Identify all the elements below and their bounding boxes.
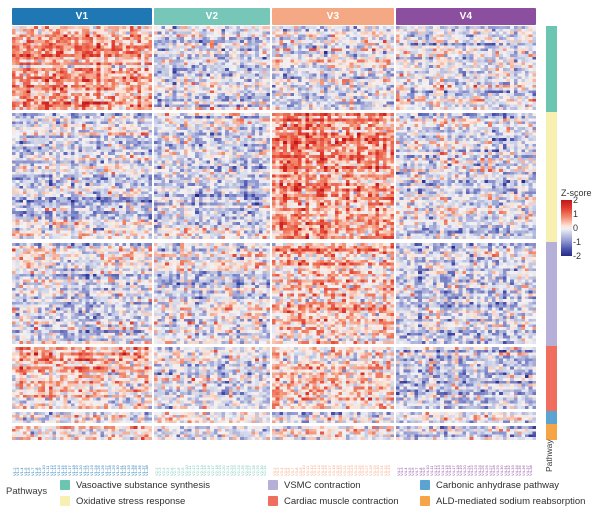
heatmap-block[interactable] xyxy=(154,243,270,344)
pathway-legend-item[interactable]: Cardiac muscle contraction xyxy=(268,493,399,509)
sample-label-group: V1-1V1-2V1-3V1-4V1-5V1-6V1-7V1-8V1-9V1-1… xyxy=(12,442,152,476)
pathway-legend-swatch xyxy=(268,496,278,506)
pathway-legend-item[interactable]: ALD-mediated sodium reabsorption xyxy=(420,493,585,509)
column-group-bar-v1[interactable]: V1 xyxy=(12,8,152,25)
pathway-annotation-segment[interactable] xyxy=(546,26,557,112)
column-group-bar-v4[interactable]: V4 xyxy=(396,8,536,25)
heatmap-block[interactable] xyxy=(154,347,270,409)
pathway-annotation-segment[interactable] xyxy=(546,346,557,411)
zscore-tick: -1 xyxy=(573,238,581,246)
pathway-legend-item[interactable]: Carbonic anhydrase pathway xyxy=(420,477,585,493)
pathway-legend-item[interactable]: Vasoactive substance synthesis xyxy=(60,477,210,493)
heatmap-block[interactable] xyxy=(12,347,152,409)
pathway-legend-label: ALD-mediated sodium reabsorption xyxy=(436,496,585,507)
zscore-legend-title: Z-score xyxy=(561,188,600,198)
zscore-tick: -2 xyxy=(573,252,581,260)
heatmap-block[interactable] xyxy=(396,426,536,440)
pathway-annotation-segment[interactable] xyxy=(546,411,557,424)
heatmap-block[interactable] xyxy=(396,26,536,110)
column-group-bar-v2[interactable]: V2 xyxy=(154,8,270,25)
heatmap-block[interactable] xyxy=(272,412,394,423)
pathway-legend-item[interactable]: Oxidative stress response xyxy=(60,493,210,509)
heatmap-block[interactable] xyxy=(272,26,394,110)
pathway-legend-column: VSMC contractionCardiac muscle contracti… xyxy=(268,477,399,509)
pathway-legend-swatch xyxy=(420,496,430,506)
heatmap-block[interactable] xyxy=(154,412,270,423)
pathway-annotation-segment[interactable] xyxy=(546,112,557,242)
zscore-legend: Z-score 210-1-2 xyxy=(561,188,600,256)
sample-label: V2-31 xyxy=(263,475,267,476)
heatmap-figure: V1V2V3V4 V1-1V1-2V1-3V1-4V1-5V1-6V1-7V1-… xyxy=(0,0,600,513)
pathway-axis-label: Pathway xyxy=(544,432,558,472)
zscore-tick: 2 xyxy=(573,196,578,204)
heatmap-block[interactable] xyxy=(396,412,536,423)
heatmap-block[interactable] xyxy=(154,26,270,110)
heatmap-block[interactable] xyxy=(272,113,394,239)
heatmap-block[interactable] xyxy=(272,347,394,409)
pathway-legend-swatch xyxy=(420,480,430,490)
pathway-legend-label: VSMC contraction xyxy=(284,480,361,491)
column-group-label: V4 xyxy=(460,11,473,22)
sample-label-group: V4-1V4-2V4-3V4-4V4-5V4-6V4-7V4-8V4-9V4-1… xyxy=(396,442,536,476)
pathway-legend-column: Carbonic anhydrase pathwayALD-mediated s… xyxy=(420,477,585,509)
zscore-tick: 1 xyxy=(573,210,578,218)
sample-label-group: V3-1V3-2V3-3V3-4V3-5V3-6V3-7V3-8V3-9V3-1… xyxy=(272,442,394,476)
column-group-label: V2 xyxy=(206,11,219,22)
zscore-tick: 0 xyxy=(573,224,578,232)
sample-label: V4-38 xyxy=(529,475,533,476)
pathway-legend-swatch xyxy=(60,496,70,506)
sample-label: V1-38 xyxy=(145,475,149,476)
pathway-legend-item[interactable]: VSMC contraction xyxy=(268,477,399,493)
heatmap-block[interactable] xyxy=(12,26,152,110)
pathway-annotation-segment[interactable] xyxy=(546,242,557,346)
pathway-legend-title: Pathways xyxy=(6,486,47,497)
heatmap-block[interactable] xyxy=(154,113,270,239)
column-group-label: V3 xyxy=(327,11,340,22)
column-group-label: V1 xyxy=(76,11,89,22)
pathway-legend-column: Vasoactive substance synthesisOxidative … xyxy=(60,477,210,509)
heatmap-block[interactable] xyxy=(12,426,152,440)
zscore-colorbar xyxy=(561,200,572,256)
heatmap-block[interactable] xyxy=(396,113,536,239)
pathway-legend-label: Cardiac muscle contraction xyxy=(284,496,399,507)
heatmap-block[interactable] xyxy=(154,426,270,440)
sample-label-group: V2-1V2-2V2-3V2-4V2-5V2-6V2-7V2-8V2-9V2-1… xyxy=(154,442,270,476)
pathway-legend-label: Carbonic anhydrase pathway xyxy=(436,480,559,491)
column-group-bar-v3[interactable]: V3 xyxy=(272,8,394,25)
pathway-legend-swatch xyxy=(60,480,70,490)
pathway-legend-swatch xyxy=(268,480,278,490)
pathway-legend-label: Vasoactive substance synthesis xyxy=(76,480,210,491)
pathway-legend-label: Oxidative stress response xyxy=(76,496,185,507)
sample-label: V3-33 xyxy=(387,475,391,476)
heatmap-block[interactable] xyxy=(396,347,536,409)
zscore-tick-labels: 210-1-2 xyxy=(573,200,597,256)
heatmap-block[interactable] xyxy=(12,113,152,239)
heatmap-block[interactable] xyxy=(12,243,152,344)
heatmap-block[interactable] xyxy=(396,243,536,344)
heatmap-block[interactable] xyxy=(272,426,394,440)
heatmap-block[interactable] xyxy=(272,243,394,344)
heatmap-block[interactable] xyxy=(12,412,152,423)
